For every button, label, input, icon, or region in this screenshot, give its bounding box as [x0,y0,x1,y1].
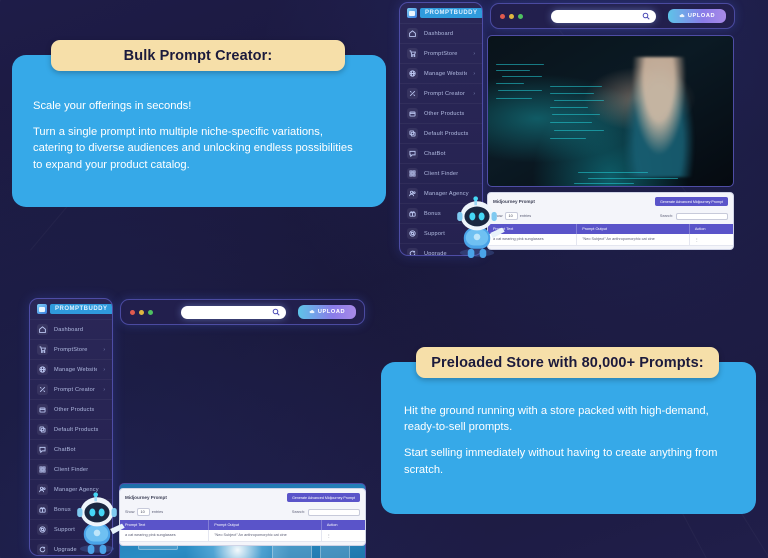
table-title: Midjourney Prompt [125,495,167,500]
sidebar-item-promptstore[interactable]: PromptStore› [400,43,482,63]
pagination: Previous 1 Next [677,249,728,250]
close-dot[interactable] [500,14,505,19]
sidebar-item-prompt-creator[interactable]: Prompt Creator› [400,83,482,103]
code-overlay-line [496,98,532,99]
table-header-row: Midjourney Prompt Generate Advanced Midj… [120,489,365,506]
sidebar-item-label: Bonus [424,211,441,217]
column-header[interactable]: Action [689,224,733,234]
code-overlay-line [496,83,524,84]
sidebar-item-manage-website[interactable]: Manage Website› [400,63,482,83]
row-action-menu[interactable]: ⋮ [321,530,365,541]
app-logo[interactable]: PROMPTBUDDY [400,3,482,23]
sidebar-item-label: Default Products [424,131,469,137]
sidebar-item-label: PromptStore [54,347,88,353]
sidebar-item-default-products[interactable]: Default Products [30,419,112,439]
column-header[interactable]: Prompt Output [208,520,321,530]
gift-icon [37,504,48,515]
copy-icon [37,424,48,435]
sidebar-item-label: Default Products [54,427,99,433]
table-column-headers: Prompt Text Prompt Output Action [120,520,365,530]
sidebar-item-label: Prompt Creator [424,91,465,97]
window-controls [130,310,153,315]
column-header[interactable]: Prompt Output [576,224,689,234]
code-overlay-line [496,70,530,71]
code-overlay-line [588,178,678,179]
code-overlay-line [550,138,586,139]
pager-previous[interactable]: Previous [677,249,699,250]
sidebar-item-label: ChatBot [54,447,76,453]
pager-page-1[interactable]: 1 [701,249,711,250]
code-overlay-line [554,130,604,131]
globe-icon [407,68,418,79]
refresh-icon [37,544,48,555]
table-row: a cat wearing pink sunglasses "Neo Subje… [488,234,733,246]
pager-next[interactable]: Next [345,545,360,546]
sidebar-item-label: Client Finder [424,171,458,177]
pager-next[interactable]: Next [713,249,728,250]
cell-prompt-text: a cat wearing pink sunglasses [120,530,208,541]
wand-icon [407,88,418,99]
pager-previous[interactable]: Previous [309,545,331,546]
search-icon [642,12,650,20]
minimize-dot[interactable] [139,310,144,315]
browser-toolbar: UPLOAD [490,3,735,29]
feature-paragraph: Start selling immediately without having… [404,445,739,477]
sidebar-item-label: Client Finder [54,467,88,473]
sidebar-item-label: ChatBot [424,151,446,157]
app-logo[interactable]: PROMPTBUDDY [30,299,112,319]
code-overlay-line [574,183,634,184]
sidebar-item-label: Prompt Creator [54,387,95,393]
upload-label: UPLOAD [688,13,715,19]
search-input[interactable] [181,306,286,319]
feature-paragraph: Hit the ground running with a store pack… [404,403,739,435]
sidebar-item-prompt-creator[interactable]: Prompt Creator› [30,379,112,399]
table-search: Search: [660,213,728,220]
lifebuoy-icon [407,228,418,239]
search-label: Search: [660,214,673,218]
sidebar-item-chatbot[interactable]: ChatBot [400,143,482,163]
robot-logo-icon [407,8,417,18]
cell-prompt-output: "Neo Subject" An anthropomorphic cat cin… [576,234,689,245]
grid-icon [37,464,48,475]
chevron-right-icon: › [103,347,105,353]
table-footer: Showing 1 to 1 of 1 entries Previous 1 N… [120,542,365,546]
code-overlay-line [550,122,592,123]
hero-coder-photo [487,35,734,187]
robot-mascot [64,492,130,558]
chevron-right-icon: › [473,71,475,77]
feature-paragraph: Turn a single prompt into multiple niche… [33,124,363,173]
column-header[interactable]: Prompt Text [120,520,208,530]
entries-label: entries [152,510,163,514]
wand-icon [37,384,48,395]
robot-mascot [444,196,510,262]
search-input[interactable] [551,10,656,23]
entries-label: entries [520,214,531,218]
table-header-row: Midjourney Prompt Generate Advanced Midj… [488,193,733,210]
copy-icon [407,128,418,139]
cell-prompt-output: "Neo Subject" An anthropomorphic cat cin… [208,530,321,541]
table-row: a cat wearing pink sunglasses "Neo Subje… [120,530,365,542]
close-dot[interactable] [130,310,135,315]
cart-icon [407,48,418,59]
sidebar-item-label: Other Products [424,111,464,117]
upload-cloud-icon [679,13,685,19]
sidebar-item-label: Manage Website [54,367,97,373]
maximize-dot[interactable] [148,310,153,315]
upload-cloud-icon [309,309,315,315]
sidebar-item-label: Manage Website [424,71,467,77]
robot-logo-icon [37,304,47,314]
cart-icon [37,344,48,355]
code-overlay-line [502,76,542,77]
feature-title-pill: Preloaded Store with 80,000+ Prompts: [416,347,719,378]
sidebar-item-label: Dashboard [54,327,83,333]
code-overlay-line [552,114,600,115]
box-icon [407,108,418,119]
entries-select[interactable]: 10 [137,508,150,516]
code-overlay-line [554,100,604,101]
globe-icon [37,364,48,375]
users-icon [37,484,48,495]
generate-prompt-button[interactable]: Generate Advanced Midjourney Prompt [287,493,360,502]
table-column-headers: Prompt Text Prompt Output Action [488,224,733,234]
feature-paragraph: Scale your offerings in seconds! [33,98,363,114]
code-overlay-line [550,93,594,94]
table-controls: Show 10 entries Search: [120,506,365,520]
code-overlay-line [550,107,588,108]
table-search: Search: [292,509,360,516]
minimize-dot[interactable] [509,14,514,19]
upload-button[interactable]: UPLOAD [668,9,726,23]
grid-icon [407,168,418,179]
sidebar-item-client-finder[interactable]: Client Finder [30,459,112,479]
data-table-panel: Midjourney Prompt Generate Advanced Midj… [487,192,734,250]
feature-body: Hit the ground running with a store pack… [404,403,739,478]
chevron-right-icon: › [103,367,105,373]
page-root: Bulk Prompt Creator: Scale your offering… [0,0,768,558]
gift-icon [407,208,418,219]
sidebar-item-client-finder[interactable]: Client Finder [400,163,482,183]
upload-button[interactable]: UPLOAD [298,305,356,319]
home-icon [407,28,418,39]
sidebar-item-label: Other Products [54,407,94,413]
search-icon [272,308,280,316]
chevron-right-icon: › [473,51,475,57]
upload-label: UPLOAD [318,309,345,315]
lifebuoy-icon [37,524,48,535]
pager-page-1[interactable]: 1 [333,545,343,546]
sidebar-item-chatbot[interactable]: ChatBot [30,439,112,459]
sidebar-item-promptstore[interactable]: PromptStore› [30,339,112,359]
refresh-icon [407,248,418,256]
chat-icon [407,148,418,159]
feature-body: Scale your offerings in seconds! Turn a … [33,98,363,173]
search-label: Search: [292,510,305,514]
chevron-right-icon: › [103,387,105,393]
pagination: Previous 1 Next [309,545,360,546]
table-controls: Show 10 entries Search: [488,210,733,224]
code-overlay-line [496,64,544,65]
table-footer: Showing 1 to 1 of 1 entries Previous 1 N… [488,246,733,250]
column-header[interactable]: Action [321,520,365,530]
data-table-panel: Midjourney Prompt Generate Advanced Midj… [119,488,366,546]
chevron-right-icon: › [473,91,475,97]
code-overlay-line [550,86,602,87]
app-logo-text: PROMPTBUDDY [50,304,113,314]
chat-icon [37,444,48,455]
browser-toolbar: UPLOAD [120,299,365,325]
sidebar-item-dashboard[interactable]: Dashboard [30,319,112,339]
home-icon [37,324,48,335]
window-controls [500,14,523,19]
maximize-dot[interactable] [518,14,523,19]
users-icon [407,188,418,199]
row-action-menu[interactable]: ⋮ [689,234,733,245]
app-logo-text: PROMPTBUDDY [420,8,483,18]
sidebar-item-default-products[interactable]: Default Products [400,123,482,143]
table-search-input[interactable] [676,213,728,220]
box-icon [37,404,48,415]
sidebar-item-label: PromptStore [424,51,458,57]
sidebar-item-label: Support [424,231,445,237]
feature-title-pill: Bulk Prompt Creator: [51,40,345,71]
hero-subject [624,57,694,177]
sidebar-item-other-products[interactable]: Other Products [400,103,482,123]
sidebar-item-label: Dashboard [424,31,453,37]
sidebar-item-manage-website[interactable]: Manage Website› [30,359,112,379]
sidebar-item-dashboard[interactable]: Dashboard [400,23,482,43]
table-search-input[interactable] [308,509,360,516]
code-overlay-line [498,90,542,91]
entries-selector: Show 10 entries [125,508,163,516]
sidebar-item-other-products[interactable]: Other Products [30,399,112,419]
generate-prompt-button[interactable]: Generate Advanced Midjourney Prompt [655,197,728,206]
